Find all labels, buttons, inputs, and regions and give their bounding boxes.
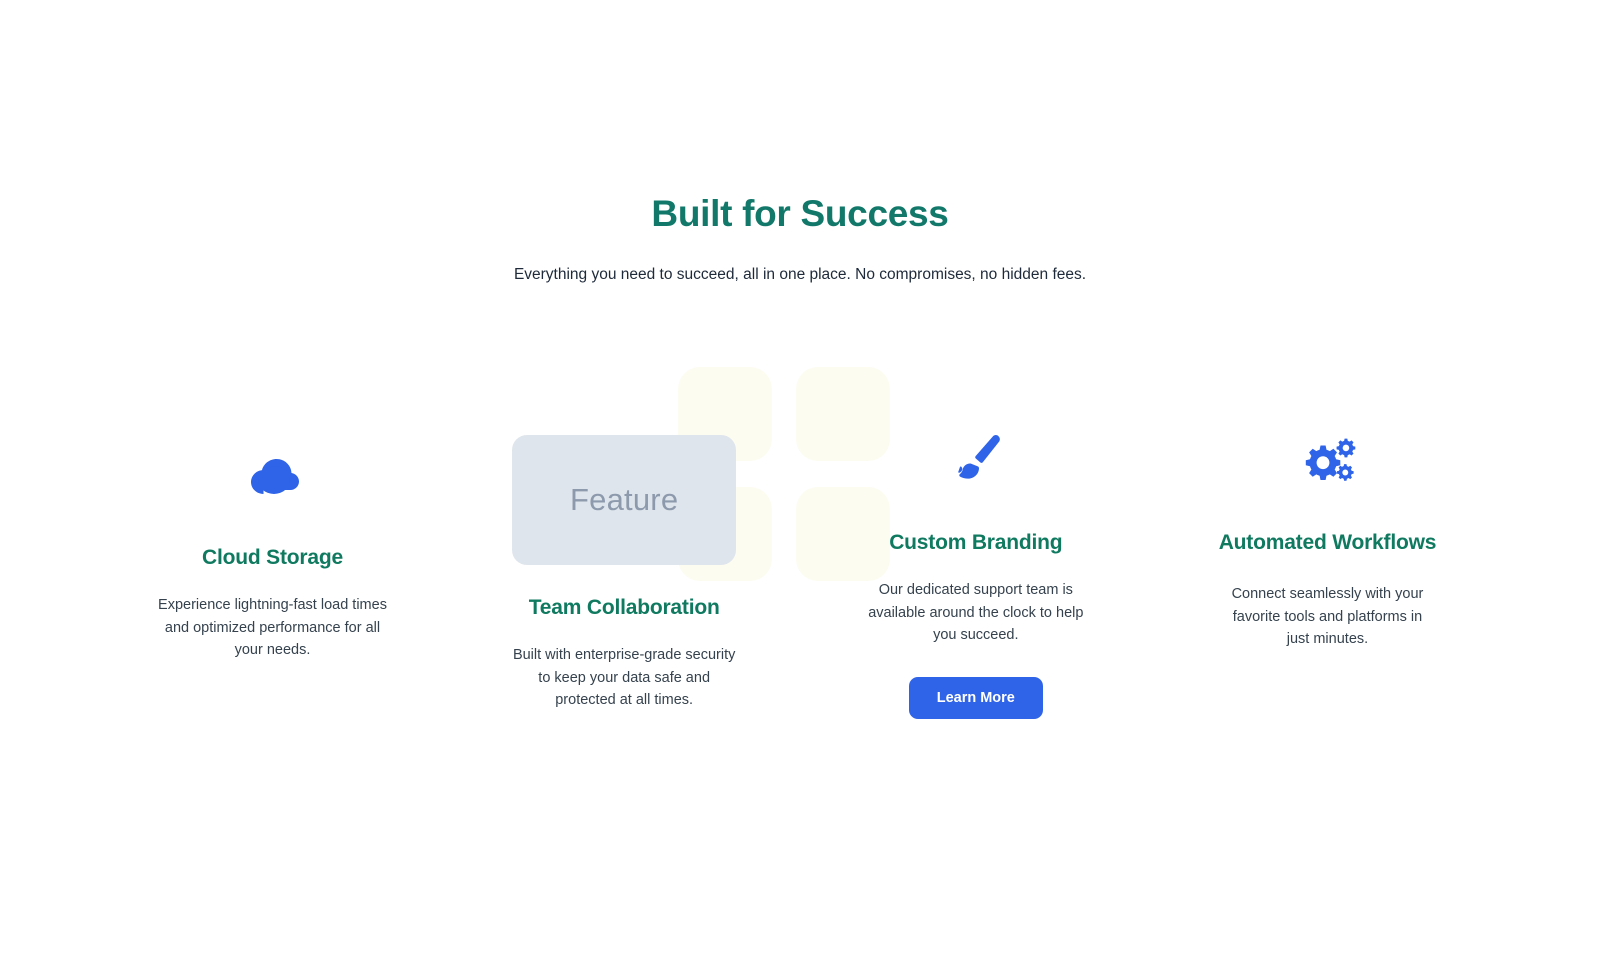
feature-card: Custom Branding Our dedicated support te… bbox=[853, 430, 1098, 719]
card-title: Cloud Storage bbox=[202, 545, 343, 570]
page-title: Built for Success bbox=[0, 192, 1600, 236]
feature-section-page: Built for Success Everything you need to… bbox=[0, 0, 1600, 978]
placeholder-label: Feature bbox=[570, 482, 678, 518]
card-title: Team Collaboration bbox=[529, 595, 720, 620]
card-title: Custom Branding bbox=[889, 530, 1062, 555]
card-description: Built with enterprise-grade security to … bbox=[508, 644, 740, 711]
feature-card: Automated Workflows Connect seamlessly w… bbox=[1205, 430, 1450, 651]
section-header: Built for Success Everything you need to… bbox=[0, 0, 1600, 287]
paintbrush-icon bbox=[949, 430, 1003, 492]
card-title: Automated Workflows bbox=[1219, 530, 1437, 555]
card-description: Experience lightning-fast load times and… bbox=[157, 594, 389, 661]
card-description: Our dedicated support team is available … bbox=[861, 579, 1091, 646]
gears-icon bbox=[1296, 430, 1358, 492]
feature-card-list: Cloud Storage Experience lightning-fast … bbox=[150, 355, 1450, 775]
feature-placeholder-image: Feature bbox=[512, 435, 736, 565]
learn-more-button[interactable]: Learn More bbox=[909, 677, 1043, 719]
page-subtitle: Everything you need to succeed, all in o… bbox=[0, 264, 1600, 286]
cloud-icon bbox=[247, 445, 299, 507]
feature-card: Cloud Storage Experience lightning-fast … bbox=[150, 445, 395, 662]
feature-card: Feature Team Collaboration Built with en… bbox=[502, 435, 747, 712]
card-description: Connect seamlessly with your favorite to… bbox=[1221, 583, 1433, 650]
